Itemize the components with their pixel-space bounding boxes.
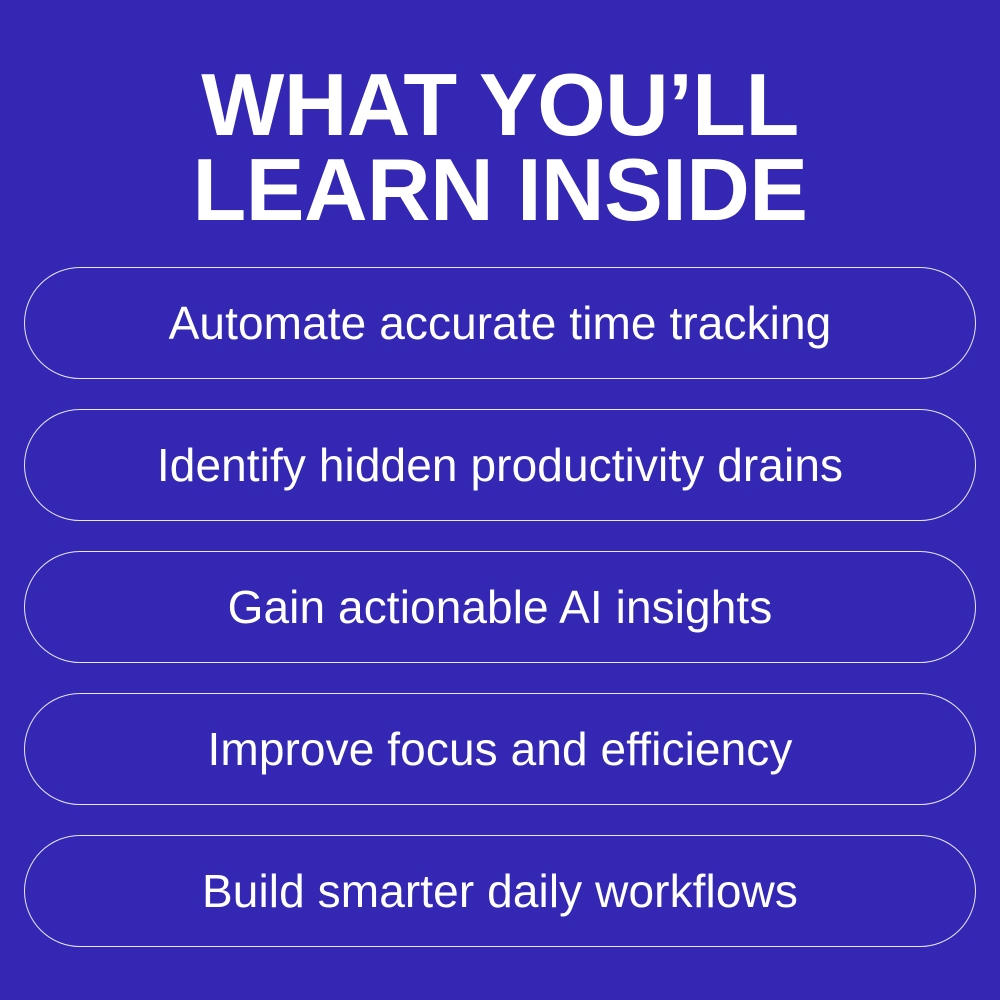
page-title: WHAT YOU’LL LEARN INSIDE	[0, 50, 1000, 232]
page-title-line-1: WHAT YOU’LL	[0, 50, 1000, 147]
benefit-pill-3[interactable]: Gain actionable AI insights	[24, 551, 976, 663]
benefit-pill-5[interactable]: Build smarter daily workflows	[24, 835, 976, 947]
benefit-label: Identify hidden productivity drains	[157, 439, 843, 491]
benefit-label: Gain actionable AI insights	[228, 581, 773, 633]
benefit-list: Automate accurate time tracking Identify…	[24, 267, 976, 947]
benefit-pill-2[interactable]: Identify hidden productivity drains	[24, 409, 976, 521]
benefit-pill-4[interactable]: Improve focus and efficiency	[24, 693, 976, 805]
benefit-label: Improve focus and efficiency	[208, 723, 793, 775]
benefit-label: Automate accurate time tracking	[169, 297, 832, 349]
page-title-line-2: LEARN INSIDE	[0, 147, 1000, 232]
benefit-pill-1[interactable]: Automate accurate time tracking	[24, 267, 976, 379]
poster-canvas: WHAT YOU’LL LEARN INSIDE Automate accura…	[0, 0, 1000, 1000]
benefit-label: Build smarter daily workflows	[202, 865, 798, 917]
